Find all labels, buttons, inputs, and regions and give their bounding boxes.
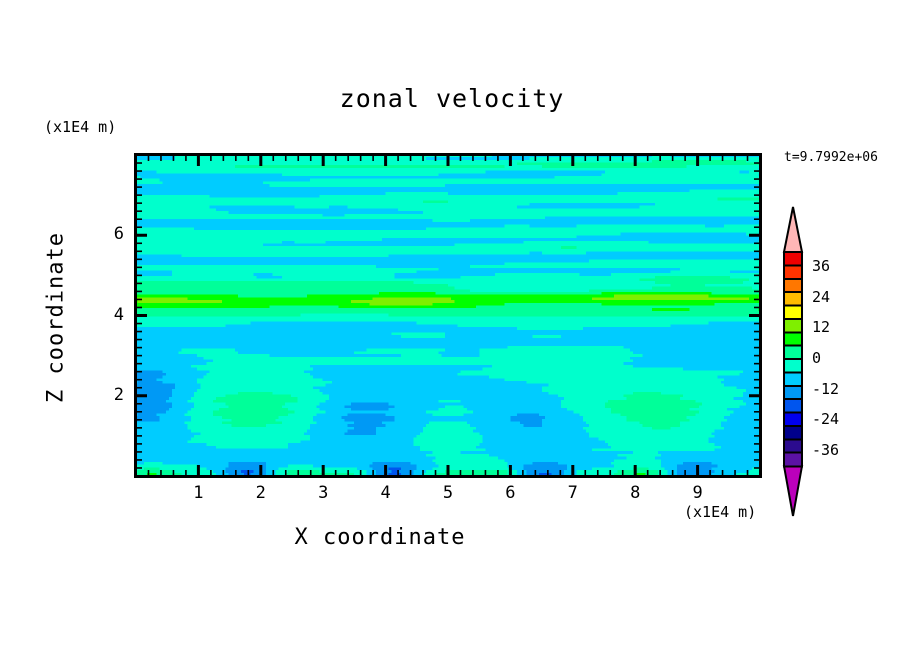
y-axis-title: Z coordinate xyxy=(44,218,69,418)
x-tick-label: 3 xyxy=(308,483,338,503)
x-axis-title: X coordinate xyxy=(0,525,760,550)
timestamp-annotation: t=9.7992e+06 xyxy=(784,150,878,165)
x-tick-label: 6 xyxy=(495,483,525,503)
x-tick-label: 4 xyxy=(371,483,401,503)
colorbar-tick-label: -36 xyxy=(812,441,839,459)
plot-title: zonal velocity xyxy=(0,84,904,113)
x-tick-label: 5 xyxy=(433,483,463,503)
x-axis-unit-label: (x1E4 m) xyxy=(684,503,756,521)
y-tick-label: 6 xyxy=(100,224,124,244)
x-tick-label: 8 xyxy=(620,483,650,503)
y-tick-label: 2 xyxy=(100,385,124,405)
colorbar-tick-label: 36 xyxy=(812,257,830,275)
colorbar-tick-label: 0 xyxy=(812,349,821,367)
x-tick-label: 1 xyxy=(183,483,213,503)
x-tick-label: 2 xyxy=(246,483,276,503)
figure-canvas: zonal velocity (x1E4 m) (x1E4 m) t=9.799… xyxy=(0,0,904,654)
colorbar-tick-label: -24 xyxy=(812,410,839,428)
colorbar-tick-label: 24 xyxy=(812,288,830,306)
x-tick-label: 7 xyxy=(558,483,588,503)
x-tick-label: 9 xyxy=(683,483,713,503)
y-tick-label: 4 xyxy=(100,305,124,325)
colorbar-tick-label: -12 xyxy=(812,380,839,398)
y-axis-unit-label: (x1E4 m) xyxy=(44,118,116,136)
colorbar-tick-label: 12 xyxy=(812,318,830,336)
